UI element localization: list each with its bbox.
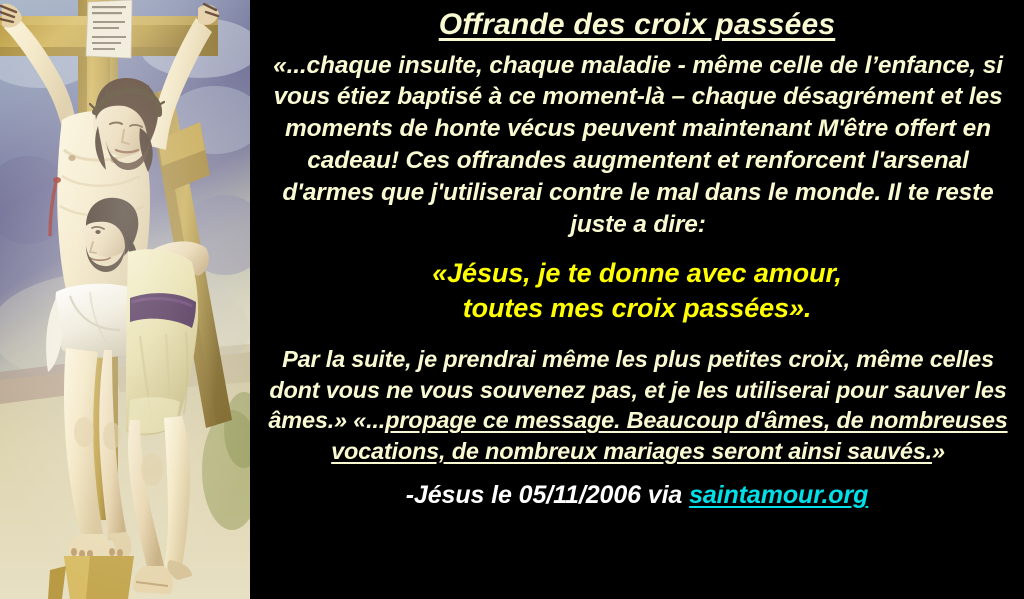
- prayer-line-2: toutes mes croix passées».: [262, 291, 1012, 326]
- highlighted-prayer-quote: «Jésus, je te donne avec amour, toutes m…: [250, 240, 1024, 326]
- intro-paragraph: «...chaque insulte, chaque maladie - mêm…: [250, 42, 1024, 241]
- crucifixion-painting: [0, 0, 250, 599]
- saintamour-link[interactable]: saintamour.org: [689, 481, 868, 509]
- attribution-line: -Jésus le 05/11/2006 via saintamour.org: [250, 466, 1024, 510]
- outro-underlined-text: propage ce message. Beaucoup d'âmes, de …: [331, 407, 1007, 464]
- attribution-prefix: -Jésus le 05/11/2006 via: [406, 481, 689, 509]
- outro-paragraph: Par la suite, je prendrai même les plus …: [250, 326, 1024, 466]
- poster-container: Offrande des croix passées «...chaque in…: [0, 0, 1024, 599]
- crucifixion-painting-svg: [0, 0, 250, 599]
- page-title: Offrande des croix passées: [250, 0, 1024, 42]
- prayer-line-1: «Jésus, je te donne avec amour,: [262, 256, 1012, 291]
- message-text-panel: Offrande des croix passées «...chaque in…: [250, 0, 1024, 599]
- outro-closing-quote: »: [932, 438, 945, 464]
